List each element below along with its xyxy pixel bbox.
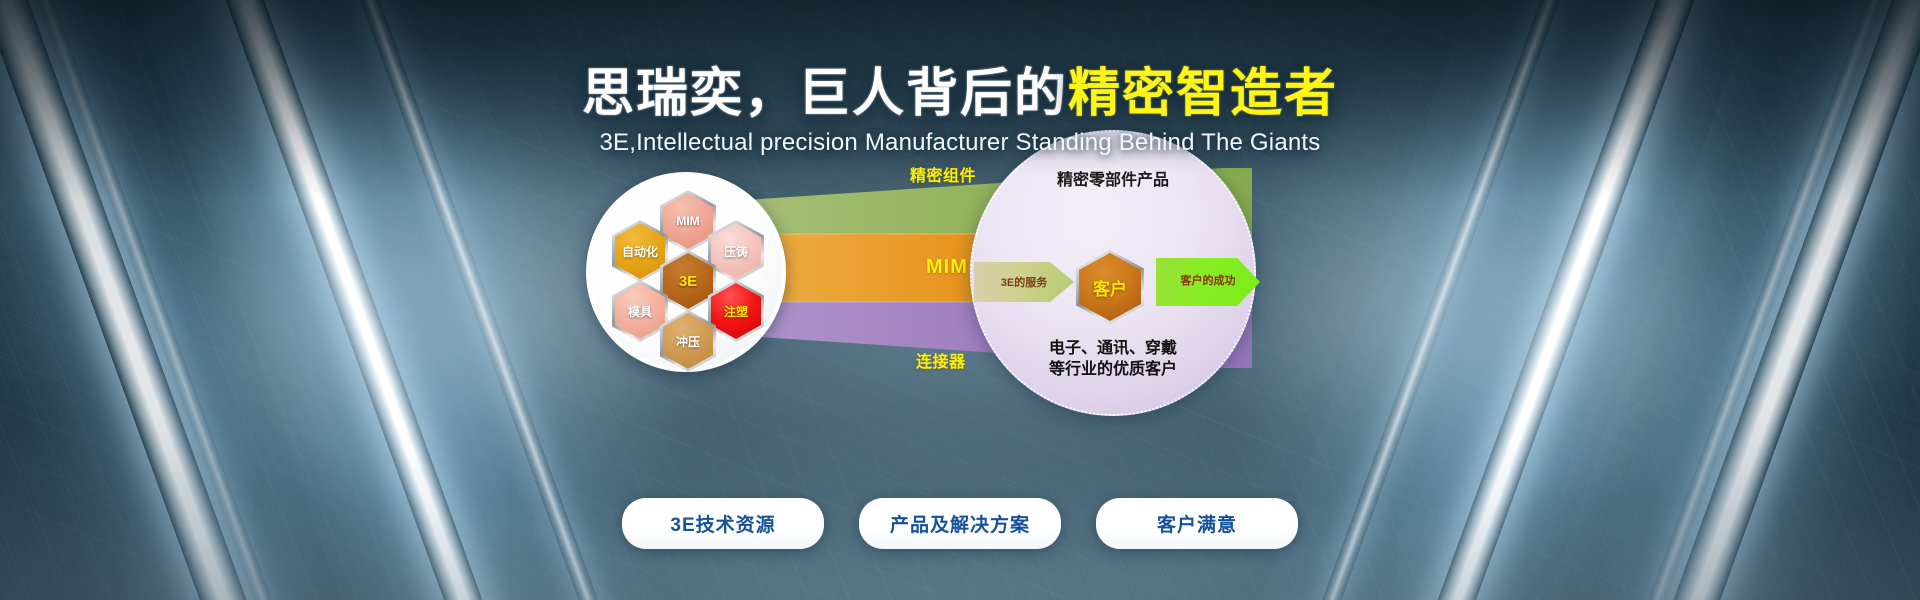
arrow-3e-service: 3E的服务 (974, 262, 1074, 302)
cta-button-customer-satisfaction[interactable]: 客户满意 (1096, 498, 1298, 549)
hex-fill-stamping: 冲压 (660, 310, 716, 372)
capability-funnel-diagram: 精密组件 MIM 连接器 精密零部件产品 3E的服务 客户 客户的 成功 电子、… (686, 168, 1252, 368)
customer-circle-title: 精密零部件产品 (972, 166, 1254, 190)
cta-button-row: 3E技术资源 产品及解决方案 客户满意 (0, 498, 1920, 549)
page-subtitle: 3E,Intellectual precision Manufacturer S… (0, 129, 1920, 157)
capability-circle: MIM 自动化 压铸 (586, 172, 786, 372)
customer-circle-footer-line2: 等行业的优质客户 (1049, 361, 1177, 378)
cta-button-products-solutions[interactable]: 产品及解决方案 (859, 498, 1061, 549)
hex-fill-injection: 注塑 (708, 280, 764, 342)
customer-flow-row: 3E的服务 客户 客户的 成功 (972, 254, 1254, 310)
hex-label-injection: 注塑 (724, 303, 748, 320)
customer-circle-footer: 电子、通讯、穿戴 等行业的优质客户 (972, 339, 1254, 380)
hero-text-block: 思瑞奕，巨人背后的精密智造者 3E,Intellectual precision… (0, 66, 1920, 157)
hex-fill-die-casting: 压铸 (708, 220, 764, 282)
page-title: 思瑞奕，巨人背后的精密智造者 (582, 66, 1338, 122)
hex-label-mim: MIM (676, 214, 699, 228)
hex-fill-mould: 模具 (612, 280, 668, 342)
hex-label-mould: 模具 (628, 303, 652, 320)
hex-fill-3e: 3E (660, 250, 716, 312)
arrow-customer-success-line2: 成功 (1214, 275, 1236, 289)
hex-label-stamping: 冲压 (676, 333, 700, 350)
customer-hexagon: 客户 (1076, 250, 1144, 324)
hex-label-die-casting: 压铸 (724, 243, 748, 260)
page-title-accent: 精密智造者 (1068, 65, 1338, 123)
hex-label-3e: 3E (679, 273, 697, 290)
arrow-customer-success-line1: 客户的 (1181, 275, 1214, 289)
customer-circle: 精密零部件产品 3E的服务 客户 客户的 成功 电子、通讯、穿戴 等行业的优质客… (970, 130, 1256, 416)
hex-label-automation: 自动化 (622, 243, 658, 260)
hero-banner: 思瑞奕，巨人背后的精密智造者 3E,Intellectual precision… (0, 0, 1920, 600)
page-title-primary: 思瑞奕，巨人背后的 (582, 65, 1068, 123)
cta-button-tech-resources[interactable]: 3E技术资源 (622, 498, 824, 549)
arrow-customer-success: 客户的 成功 (1156, 258, 1260, 306)
hex-fill-mim: MIM (660, 190, 716, 252)
customer-circle-footer-line1: 电子、通讯、穿戴 (1049, 340, 1177, 357)
hex-fill-automation: 自动化 (612, 220, 668, 282)
